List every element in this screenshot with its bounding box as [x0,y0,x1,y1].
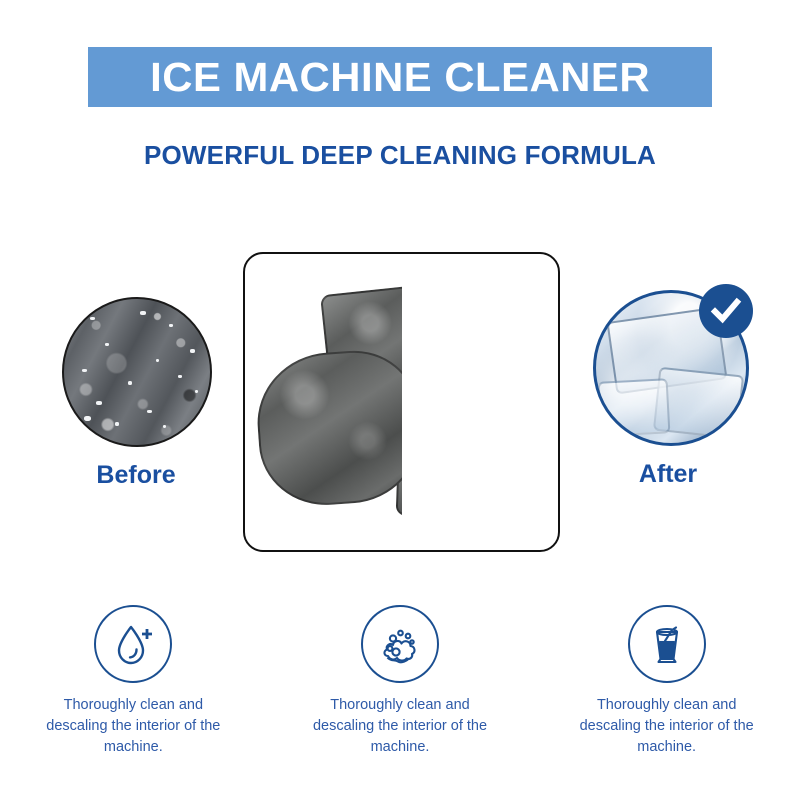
feature-item: Thoroughly clean and descaling the inter… [0,605,267,758]
comparison-row: Before [0,240,800,500]
after-block: After [593,290,753,489]
feature-caption: Thoroughly clean and descaling the inter… [305,695,495,758]
feature-caption: Thoroughly clean and descaling the inter… [572,695,762,758]
before-block: Before [62,297,210,490]
page-title: ICE MACHINE CLEANER [150,57,650,98]
water-drop-plus-icon [94,605,172,683]
soap-foam-bubbles-icon [361,605,439,683]
drinking-glass-straw-icon [628,605,706,683]
title-banner: ICE MACHINE CLEANER [88,47,712,107]
ice-cube-left [252,346,401,509]
subtitle: POWERFUL DEEP CLEANING FORMULA [0,140,800,171]
clean-half [402,254,559,550]
dirty-half [245,254,402,550]
dirty-ice-circle [62,297,212,447]
feature-item: Thoroughly clean and descaling the inter… [533,605,800,758]
features-row: Thoroughly clean and descaling the inter… [0,605,800,758]
after-label: After [593,460,743,489]
feature-item: Thoroughly clean and descaling the inter… [267,605,534,758]
feature-caption: Thoroughly clean and descaling the inter… [38,695,228,758]
split-ice-comparison-panel [243,252,560,552]
before-label: Before [62,461,210,490]
check-badge-icon [699,284,753,338]
split-ice-image [245,254,558,550]
